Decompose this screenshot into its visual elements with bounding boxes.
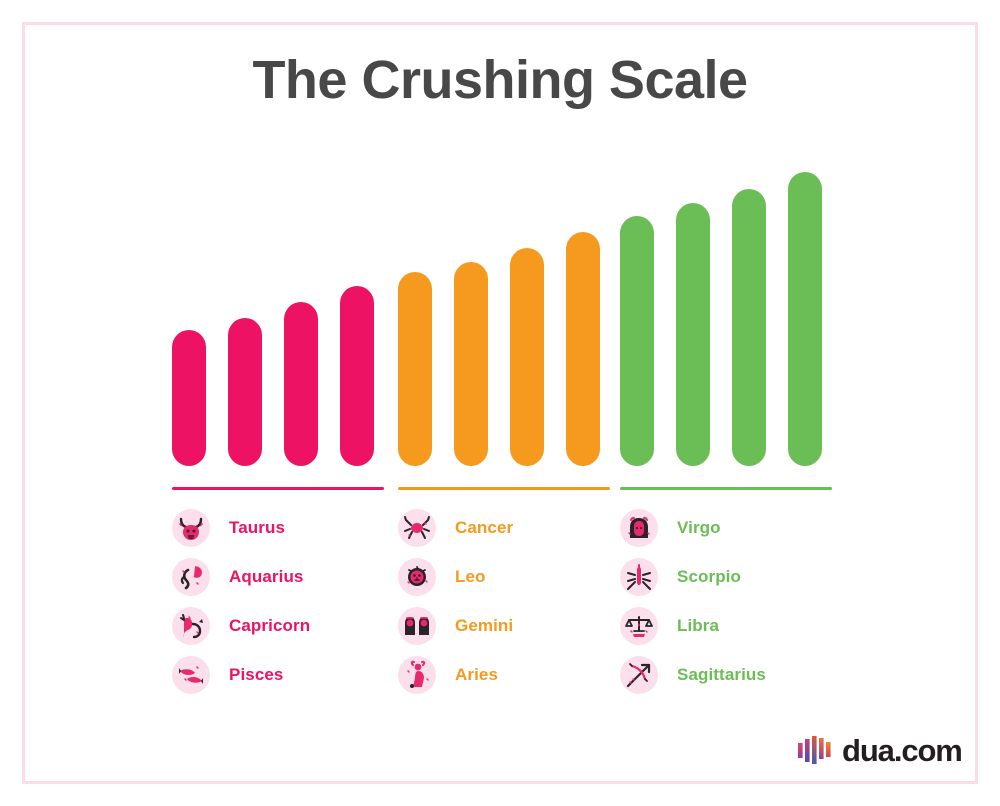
aries-icon [398, 656, 436, 694]
legend-item-leo[interactable]: Leo [398, 552, 513, 601]
legend-column-orange: Cancer Leo Gemini Aries [398, 503, 513, 699]
legend-item-scorpio[interactable]: Scorpio [620, 552, 766, 601]
group-rule-pink [172, 487, 384, 490]
legend-item-cancer[interactable]: Cancer [398, 503, 513, 552]
legend-item-sagittarius[interactable]: Sagittarius [620, 650, 766, 699]
scorpio-icon [620, 558, 658, 596]
logo-wordmark: dua.com [842, 735, 962, 766]
legend-column-pink: Taurus Aquarius Capricorn Pisces [172, 503, 310, 699]
bar-capricorn [284, 302, 318, 466]
legend-label: Sagittarius [677, 665, 766, 685]
legend-column-green: Virgo Scorpio Libra Sagittarius [620, 503, 766, 699]
capricorn-icon [172, 607, 210, 645]
group-rule-orange [398, 487, 610, 490]
bar-cancer [398, 272, 432, 466]
bar-scorpio [676, 203, 710, 466]
legend-label: Capricorn [229, 616, 310, 636]
bar-pisces [340, 286, 374, 466]
bar-sagittarius [788, 172, 822, 466]
bar-aries [566, 232, 600, 466]
legend-item-gemini[interactable]: Gemini [398, 601, 513, 650]
infographic-canvas: The Crushing Scale Taurus Aquarius Capri… [0, 0, 1000, 806]
legend-item-virgo[interactable]: Virgo [620, 503, 766, 552]
brand-logo[interactable]: dua.com [796, 728, 962, 772]
legend-label: Aquarius [229, 567, 303, 587]
legend-label: Aries [455, 665, 498, 685]
legend-label: Pisces [229, 665, 283, 685]
bar-libra [732, 189, 766, 466]
legend-label: Libra [677, 616, 719, 636]
legend-item-aries[interactable]: Aries [398, 650, 513, 699]
legend-label: Scorpio [677, 567, 741, 587]
bar-aquarius [228, 318, 262, 466]
legend-label: Gemini [455, 616, 513, 636]
sagittarius-icon [620, 656, 658, 694]
legend-item-capricorn[interactable]: Capricorn [172, 601, 310, 650]
legend-item-pisces[interactable]: Pisces [172, 650, 310, 699]
legend-label: Cancer [455, 518, 513, 538]
legend-label: Taurus [229, 518, 285, 538]
legend-item-aquarius[interactable]: Aquarius [172, 552, 310, 601]
taurus-icon [172, 509, 210, 547]
aquarius-icon [172, 558, 210, 596]
legend-label: Virgo [677, 518, 721, 538]
legend-label: Leo [455, 567, 486, 587]
bar-gemini [510, 248, 544, 466]
bar-leo [454, 262, 488, 466]
virgo-icon [620, 509, 658, 547]
group-rule-green [620, 487, 832, 490]
bar-taurus [172, 330, 206, 466]
libra-icon [620, 607, 658, 645]
pisces-icon [172, 656, 210, 694]
cancer-icon [398, 509, 436, 547]
leo-icon [398, 558, 436, 596]
legend-item-taurus[interactable]: Taurus [172, 503, 310, 552]
gemini-icon [398, 607, 436, 645]
dua-bars-logo-icon [796, 734, 836, 766]
legend-item-libra[interactable]: Libra [620, 601, 766, 650]
bar-virgo [620, 216, 654, 466]
